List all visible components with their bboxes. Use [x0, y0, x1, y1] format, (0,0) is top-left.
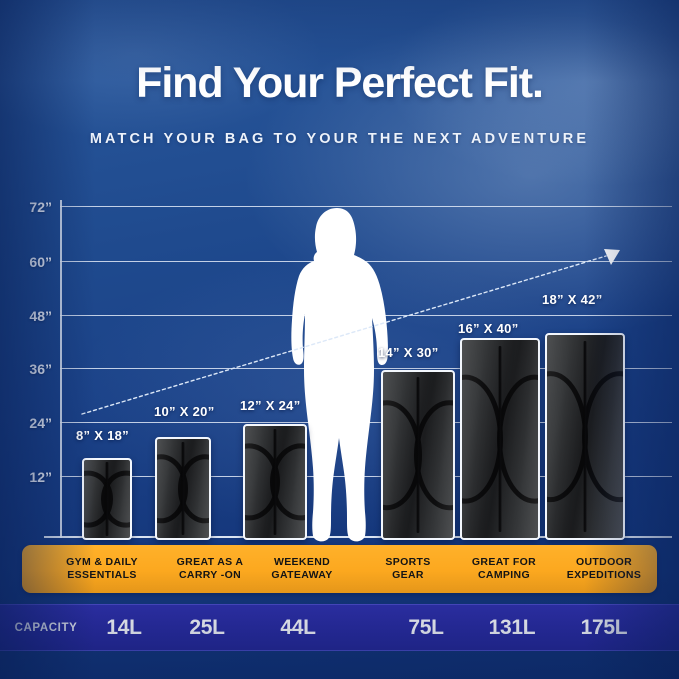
use-case-2[interactable]: WEEKEND GATEAWAY	[254, 556, 350, 583]
bag-4[interactable]	[460, 338, 540, 540]
bag-dimension-label-2: 12” X 24”	[240, 398, 301, 413]
bag-dimension-label-5: 18” X 42”	[542, 292, 603, 307]
capacity-row-label: CAPACITY	[6, 622, 86, 634]
bag-dimension-label-3: 14” X 30”	[378, 345, 439, 360]
y-axis-line	[60, 200, 62, 538]
use-case-line2: CAMPING	[456, 569, 552, 582]
bag-dimension-label-1: 10” X 20”	[154, 404, 215, 419]
bag-0[interactable]	[82, 458, 132, 540]
use-case-line1: GREAT FOR	[456, 556, 552, 569]
use-case-line2: ESSENTIALS	[38, 569, 166, 582]
use-case-line2: GEAR	[360, 569, 456, 582]
bag-gloss	[383, 372, 453, 538]
y-tick-label: 60”	[0, 254, 52, 270]
capacity-value-3: 75L	[384, 616, 468, 640]
bag-2[interactable]	[243, 424, 307, 540]
capacity-band: CAPACITY 14L 25L 44L 75L 131L 175L	[0, 604, 679, 651]
use-case-line2: GATEAWAY	[254, 569, 350, 582]
bag-dimension-label-0: 8” X 18”	[76, 428, 129, 443]
capacity-value-2: 44L	[252, 616, 344, 640]
use-case-line1: GYM & DAILY	[38, 556, 166, 569]
y-tick-label: 36”	[0, 361, 52, 377]
bag-gloss	[547, 335, 623, 538]
use-case-4[interactable]: GREAT FOR CAMPING	[456, 556, 552, 583]
use-case-line1: OUTDOOR	[552, 556, 656, 569]
infographic-canvas: Find Your Perfect Fit. MATCH YOUR BAG TO…	[0, 0, 679, 679]
y-tick-label: 72”	[0, 199, 52, 215]
use-case-band: GYM & DAILY ESSENTIALS GREAT AS A CARRY …	[22, 545, 657, 593]
use-case-line2: EXPEDITIONS	[552, 569, 656, 582]
bag-gloss	[84, 460, 130, 538]
bag-1[interactable]	[155, 437, 211, 540]
bag-gloss	[245, 426, 305, 538]
use-case-5[interactable]: OUTDOOR EXPEDITIONS	[552, 556, 656, 583]
capacity-value-5: 175L	[556, 616, 652, 640]
capacity-value-0: 14L	[86, 616, 162, 640]
y-tick-label: 24”	[0, 415, 52, 431]
use-case-0[interactable]: GYM & DAILY ESSENTIALS	[38, 556, 166, 583]
y-tick-label: 48”	[0, 308, 52, 324]
use-case-line1: WEEKEND	[254, 556, 350, 569]
bag-3[interactable]	[381, 370, 455, 540]
capacity-value-4: 131L	[468, 616, 556, 640]
use-case-1[interactable]: GREAT AS A CARRY -ON	[166, 556, 254, 583]
use-case-line1: SPORTS	[360, 556, 456, 569]
bag-dimension-label-4: 16” X 40”	[458, 321, 519, 336]
use-case-line1: GREAT AS A	[166, 556, 254, 569]
bag-5[interactable]	[545, 333, 625, 540]
bag-gloss	[157, 439, 209, 538]
use-case-line2: CARRY -ON	[166, 569, 254, 582]
y-tick-label: 12”	[0, 469, 52, 485]
use-case-3[interactable]: SPORTS GEAR	[360, 556, 456, 583]
bag-gloss	[462, 340, 538, 538]
capacity-value-1: 25L	[162, 616, 252, 640]
